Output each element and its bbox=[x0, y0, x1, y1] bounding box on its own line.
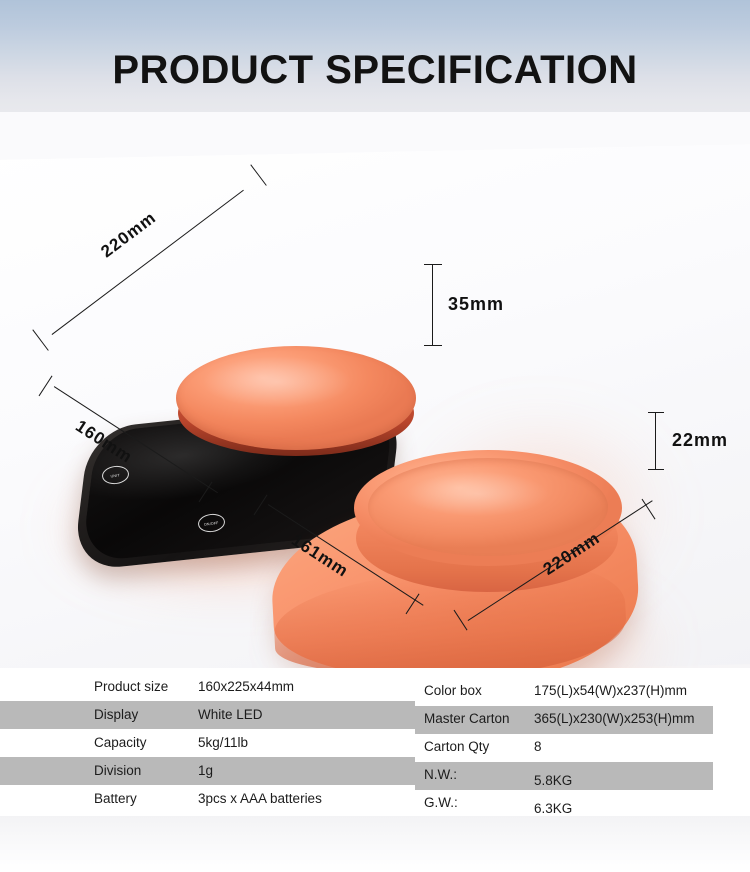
dim-cap-35-top bbox=[424, 264, 442, 265]
page-title: PRODUCT SPECIFICATION bbox=[0, 48, 750, 93]
spec-key-gw: G.W.: bbox=[424, 795, 458, 810]
bowl-lid-highlight bbox=[202, 356, 352, 408]
spec-key-product-size: Product size bbox=[94, 679, 168, 694]
product-specification-page: PRODUCT SPECIFICATION UNIT ON/OFF bbox=[0, 0, 750, 872]
spec-value-division: 1g bbox=[198, 763, 213, 778]
spec-value-master-carton: 365(L)x230(W)x253(H)mm bbox=[534, 711, 695, 726]
spec-table: Product size 160x225x44mm Display White … bbox=[0, 668, 750, 816]
spec-value-nw: 5.8KG bbox=[534, 773, 572, 788]
bowl-lid-top bbox=[176, 346, 416, 450]
spec-key-color-box: Color box bbox=[424, 683, 482, 698]
unit-button-label: UNIT bbox=[111, 472, 121, 478]
spec-key-capacity: Capacity bbox=[94, 735, 147, 750]
spec-value-gw: 6.3KG bbox=[534, 801, 572, 816]
spec-key-display: Display bbox=[94, 707, 138, 722]
spec-key-carton-qty: Carton Qty bbox=[424, 739, 489, 754]
spec-value-battery: 3pcs x AAA batteries bbox=[198, 791, 322, 806]
dim-label-35: 35mm bbox=[448, 294, 504, 315]
tray-bowl-highlight bbox=[408, 472, 548, 516]
tray-bowl bbox=[354, 450, 622, 602]
spec-key-battery: Battery bbox=[94, 791, 137, 806]
dim-cap-22-bottom bbox=[648, 469, 664, 470]
spec-value-capacity: 5kg/11lb bbox=[198, 735, 248, 750]
page-header: PRODUCT SPECIFICATION bbox=[0, 0, 750, 118]
dim-line-22 bbox=[655, 412, 656, 470]
dim-cap-22-top bbox=[648, 412, 664, 413]
spec-value-product-size: 160x225x44mm bbox=[198, 679, 294, 694]
product-photo: UNIT ON/OFF bbox=[0, 112, 750, 668]
dim-line-35 bbox=[432, 264, 433, 346]
page-footer bbox=[0, 816, 750, 872]
onoff-button-label: ON/OFF bbox=[204, 520, 219, 526]
dim-label-22: 22mm bbox=[672, 430, 728, 451]
dim-cap-35-bottom bbox=[424, 345, 442, 346]
spec-key-master-carton: Master Carton bbox=[424, 711, 510, 726]
spec-key-division: Division bbox=[94, 763, 141, 778]
spec-value-carton-qty: 8 bbox=[534, 739, 542, 754]
spec-value-color-box: 175(L)x54(W)x237(H)mm bbox=[534, 683, 687, 698]
spec-value-display: White LED bbox=[198, 707, 263, 722]
spec-key-nw: N.W.: bbox=[424, 767, 457, 782]
